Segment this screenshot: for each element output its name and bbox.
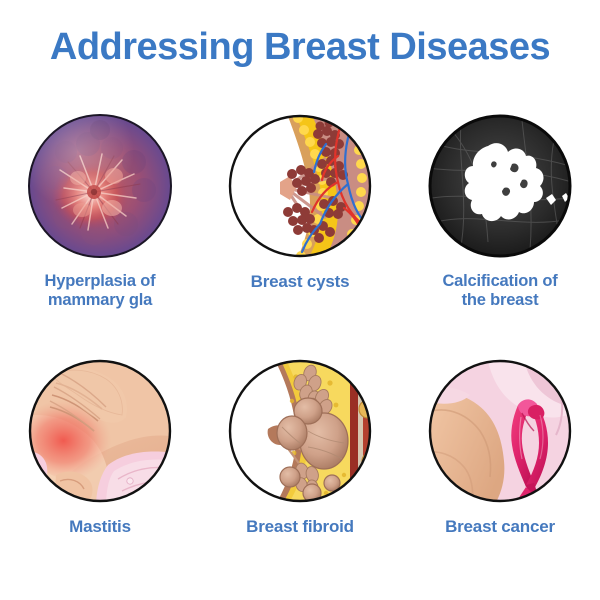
caption-line-2: the breast bbox=[404, 291, 596, 310]
breast-cancer-photo bbox=[426, 357, 574, 505]
card-label-mastitis: Mastitis bbox=[0, 517, 200, 537]
breast-fibroid-diagram bbox=[226, 357, 374, 505]
caption-line-1: Calcification of bbox=[404, 272, 596, 291]
card-mastitis[interactable]: Mastitis bbox=[0, 357, 200, 537]
card-label-breast-cancer: Breast cancer bbox=[400, 517, 600, 537]
card-label-breast-cysts: Breast cysts bbox=[200, 272, 400, 292]
card-calcification[interactable]: Calcification of the breast bbox=[400, 112, 600, 311]
card-label-breast-fibroid: Breast fibroid bbox=[200, 517, 400, 537]
caption-line-1: Hyperplasia of bbox=[4, 272, 196, 291]
card-label-hyperplasia: Hyperplasia of mammary gla bbox=[0, 272, 200, 311]
caption-line-2: mammary gla bbox=[4, 291, 196, 310]
infographic-page: Addressing Breast Diseases bbox=[0, 0, 600, 600]
disease-grid: Hyperplasia of mammary gla bbox=[0, 112, 600, 582]
caption-line-1: Breast fibroid bbox=[204, 517, 396, 537]
card-label-calcification: Calcification of the breast bbox=[400, 272, 600, 311]
calcification-mammogram bbox=[426, 112, 574, 260]
card-breast-cancer[interactable]: Breast cancer bbox=[400, 357, 600, 537]
card-breast-cysts[interactable]: Breast cysts bbox=[200, 112, 400, 292]
caption-line-1: Breast cancer bbox=[404, 517, 596, 537]
card-breast-fibroid[interactable]: Breast fibroid bbox=[200, 357, 400, 537]
page-title: Addressing Breast Diseases bbox=[0, 26, 600, 69]
mastitis-photo bbox=[26, 357, 174, 505]
hyperplasia-illustration bbox=[26, 112, 174, 260]
caption-line-1: Breast cysts bbox=[204, 272, 396, 292]
breast-cysts-diagram bbox=[226, 112, 374, 260]
card-hyperplasia[interactable]: Hyperplasia of mammary gla bbox=[0, 112, 200, 311]
caption-line-1: Mastitis bbox=[4, 517, 196, 537]
